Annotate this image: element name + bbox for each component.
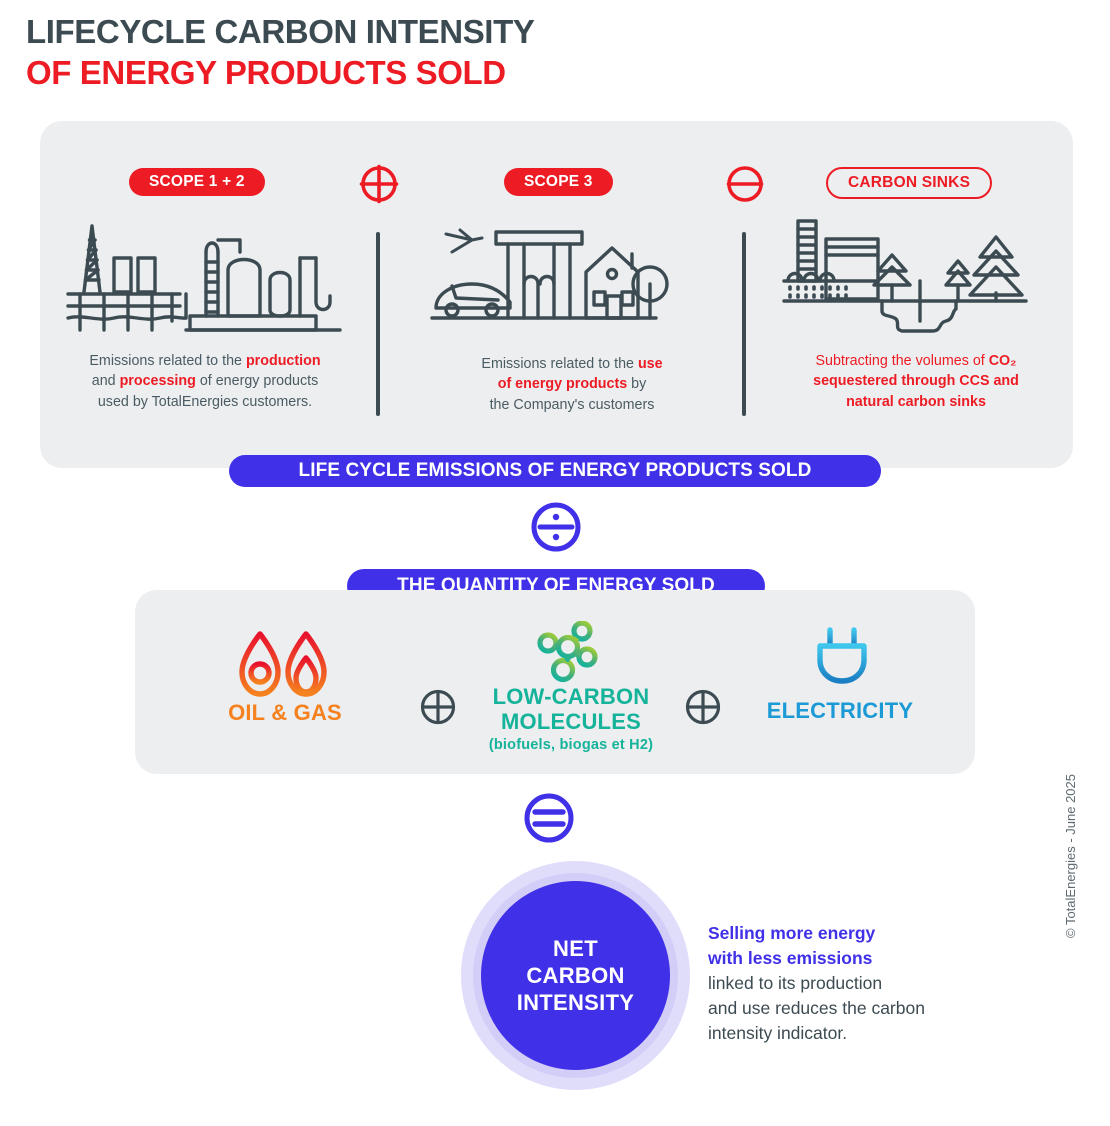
page-title: LIFECYCLE CARBON INTENSITY OF ENERGY PRO… [26, 12, 534, 94]
ribbon-label: LIFE CYCLE EMISSIONS OF ENERGY PRODUCTS … [299, 460, 812, 482]
result-note-rest-2: and use reduces the carbon [708, 998, 925, 1018]
equals-operator-icon [521, 790, 577, 846]
page-title-line2: OF ENERGY PRODUCTS SOLD [26, 53, 534, 94]
badge-label: CARBON SINKS [848, 174, 970, 192]
plus-operator-icon [419, 688, 457, 726]
label-low-carbon-molecules: LOW-CARBON MOLECULES (biofuels, biogas e… [461, 684, 681, 754]
caption-scope-1-2: Emissions related to the productionand p… [55, 351, 355, 412]
plus-operator-icon [359, 164, 399, 204]
copyright-text: © TotalEnergies - June 2025 [1063, 758, 1078, 938]
transport-buildings-icon [430, 222, 715, 332]
factory-forest-ccs-icon [780, 215, 1030, 340]
badge-carbon-sinks: CARBON SINKS [826, 167, 992, 199]
label-low-carbon-sub: (biofuels, biogas et H2) [461, 737, 681, 754]
result-note-highlight-1: Selling more energy [708, 923, 875, 943]
net-line-2: CARBON [526, 963, 624, 988]
minus-operator-icon [725, 164, 765, 204]
badge-scope-3: SCOPE 3 [504, 168, 613, 196]
label-electricity: ELECTRICITY [740, 698, 940, 724]
panel-divider-1 [376, 232, 380, 416]
plus-operator-icon [684, 688, 722, 726]
oil-platform-refinery-icon [64, 218, 344, 333]
badge-label: SCOPE 1 + 2 [149, 173, 245, 191]
label-low-carbon-line2: MOLECULES [501, 709, 641, 734]
result-note-rest-3: intensity indicator. [708, 1023, 847, 1043]
net-line-3: INTENSITY [517, 990, 635, 1015]
net-line-1: NET [553, 936, 598, 961]
flame-drop-icon [238, 628, 334, 700]
result-note-highlight-2: with less emissions [708, 948, 872, 968]
net-carbon-intensity-circle: NET CARBON INTENSITY [481, 881, 670, 1070]
caption-scope-3: Emissions related to the useof energy pr… [432, 354, 712, 415]
ribbon-lifecycle-emissions: LIFE CYCLE EMISSIONS OF ENERGY PRODUCTS … [229, 455, 881, 487]
badge-scope-1-2: SCOPE 1 + 2 [129, 168, 265, 196]
result-note: Selling more energy with less emissions … [708, 921, 1038, 1046]
panel-divider-2 [742, 232, 746, 416]
label-low-carbon-line1: LOW-CARBON [493, 684, 650, 709]
label-oil-and-gas: OIL & GAS [185, 700, 385, 726]
divide-operator-icon [528, 499, 584, 555]
badge-label: SCOPE 3 [524, 173, 593, 191]
result-note-rest-1: linked to its production [708, 973, 882, 993]
power-plug-icon [810, 626, 874, 696]
molecule-icon [530, 621, 606, 687]
page-title-line1: LIFECYCLE CARBON INTENSITY [26, 12, 534, 53]
caption-carbon-sinks: Subtracting the volumes of CO₂sequestere… [766, 351, 1066, 412]
